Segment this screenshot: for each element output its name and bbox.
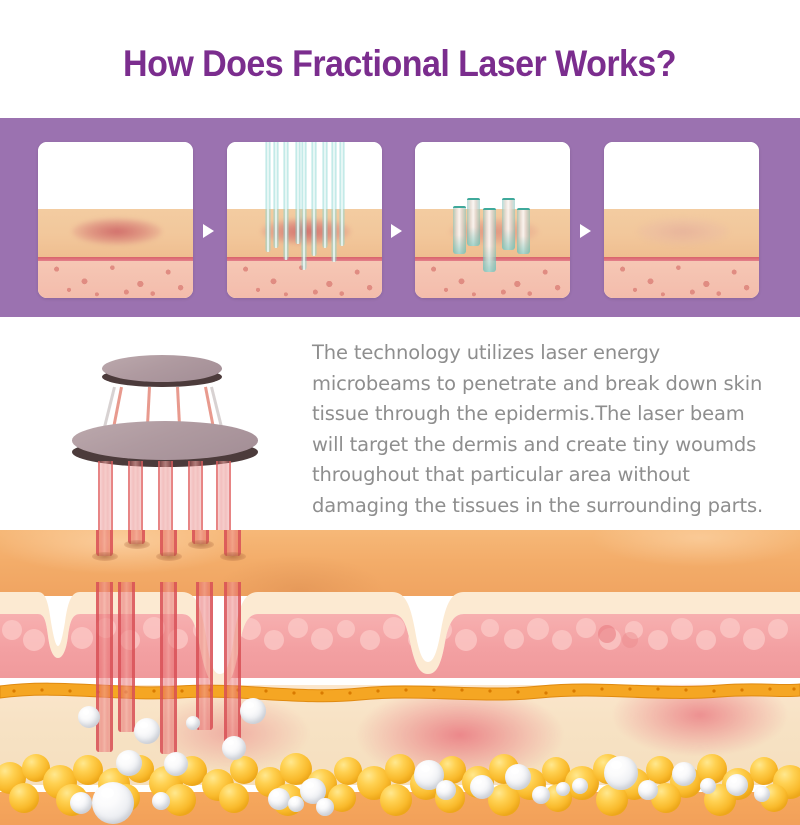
microthermal-zone <box>517 208 530 254</box>
laser-beams-panel <box>227 142 382 298</box>
microthermal-zone <box>502 198 515 250</box>
disc-surface <box>102 355 222 382</box>
panel-hypodermis-texture <box>604 261 759 298</box>
penetrating-laser-beam <box>224 582 241 752</box>
penetrating-laser-beam <box>160 582 177 754</box>
tissue-bubble <box>726 774 748 796</box>
laser-beam <box>283 142 289 260</box>
tissue-bubble <box>604 756 638 790</box>
laser-beam <box>311 142 317 256</box>
microthermal-zone <box>483 208 496 272</box>
tissue-bubble <box>78 706 100 728</box>
tissue-bubble <box>240 698 266 724</box>
tissue-bubble <box>700 778 716 794</box>
triangle-right-icon <box>580 224 591 238</box>
tissue-bubble <box>268 788 290 810</box>
tissue-bubble <box>152 792 170 810</box>
tissue-bubble <box>134 718 160 744</box>
triangle-right-icon <box>391 224 402 238</box>
tissue-bubble <box>638 780 658 800</box>
triangle-right-icon <box>203 224 214 238</box>
tissue-bubble <box>672 762 696 786</box>
tissue-bubble <box>222 736 246 760</box>
device-laser-beam <box>98 461 113 541</box>
tissue-bubble <box>116 750 142 776</box>
laser-beam <box>273 142 279 248</box>
damaged-skin-panel <box>38 142 193 298</box>
tissue-bubble <box>316 798 334 816</box>
fractional-laser-handpiece <box>58 345 288 545</box>
microthermal-zone <box>453 206 466 254</box>
beam-entry-point <box>124 540 150 549</box>
microthermal-zones-panel <box>415 142 570 298</box>
panel-background-white <box>415 142 570 209</box>
description-paragraph: The technology utilizes laser energy mic… <box>312 338 782 521</box>
tissue-bubble <box>572 778 588 794</box>
infographic-page: How Does Fractional Laser Works? <box>0 0 800 825</box>
laser-beam <box>322 142 328 248</box>
scar-blemish <box>72 218 162 245</box>
disc-surface <box>72 421 258 460</box>
microthermal-zone <box>467 198 480 246</box>
beam-entry-point <box>92 552 118 561</box>
tissue-bubble <box>70 792 92 814</box>
tissue-bubble <box>754 786 770 802</box>
process-banner <box>0 118 800 317</box>
laser-beam <box>331 142 337 262</box>
page-title: How Does Fractional Laser Works? <box>124 37 677 82</box>
laser-beam <box>265 142 271 252</box>
panel-hypodermis-texture <box>38 261 193 298</box>
beam-entry-point <box>188 540 214 549</box>
panel-background-white <box>38 142 193 209</box>
laser-beam <box>301 142 307 270</box>
device-laser-beam <box>188 461 203 537</box>
beam-entry-point <box>156 552 182 561</box>
title-bar: How Does Fractional Laser Works? <box>0 0 800 118</box>
device-upper-disc <box>102 355 222 387</box>
tissue-bubble <box>186 716 200 730</box>
tissue-bubble <box>436 780 456 800</box>
panel-background-white <box>604 142 759 209</box>
tissue-bubble <box>164 752 188 776</box>
skin-cross-section-illustration <box>0 530 800 825</box>
healed-blemish <box>638 218 728 245</box>
penetrating-laser-beam <box>118 582 135 732</box>
tissue-bubble <box>505 764 531 790</box>
tissue-bubble <box>92 782 134 824</box>
healed-skin-panel <box>604 142 759 298</box>
device-laser-beam <box>128 461 143 537</box>
penetrating-laser-beam <box>196 582 213 730</box>
laser-beam <box>339 142 345 246</box>
tissue-bubble <box>470 775 494 799</box>
tissue-bubble <box>556 782 570 796</box>
tissue-bubble <box>532 786 550 804</box>
beam-entry-point <box>220 552 246 561</box>
penetrating-laser-beam <box>96 582 113 752</box>
